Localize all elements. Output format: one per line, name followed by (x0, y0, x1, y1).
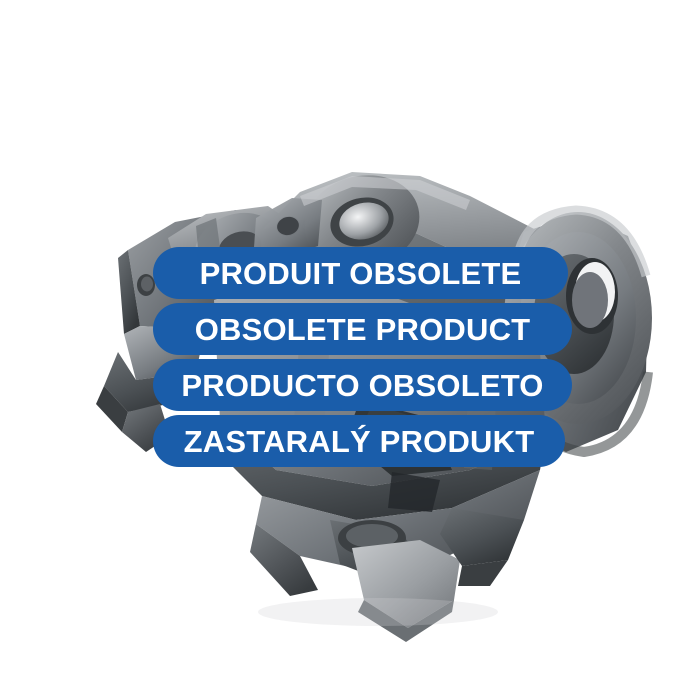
obsolete-banner-cs-label: ZASTARALÝ PRODUKT (184, 426, 535, 457)
ground-shadow (258, 598, 498, 626)
obsolete-banner-en-label: OBSOLETE PRODUCT (195, 314, 531, 345)
obsolete-banner-en: OBSOLETE PRODUCT (153, 303, 572, 355)
obsolete-banner-fr-label: PRODUIT OBSOLETE (200, 258, 522, 289)
obsolete-banner-cs: ZASTARALÝ PRODUKT (153, 415, 565, 467)
obsolete-banner-stack: PRODUIT OBSOLETE OBSOLETE PRODUCT PRODUC… (153, 247, 573, 467)
obsolete-banner-es: PRODUCTO OBSOLETO (153, 359, 572, 411)
obsolete-banner-es-label: PRODUCTO OBSOLETO (181, 370, 543, 401)
screenshot-root: PRODUIT OBSOLETE OBSOLETE PRODUCT PRODUC… (0, 0, 700, 700)
obsolete-banner-fr: PRODUIT OBSOLETE (153, 247, 568, 299)
